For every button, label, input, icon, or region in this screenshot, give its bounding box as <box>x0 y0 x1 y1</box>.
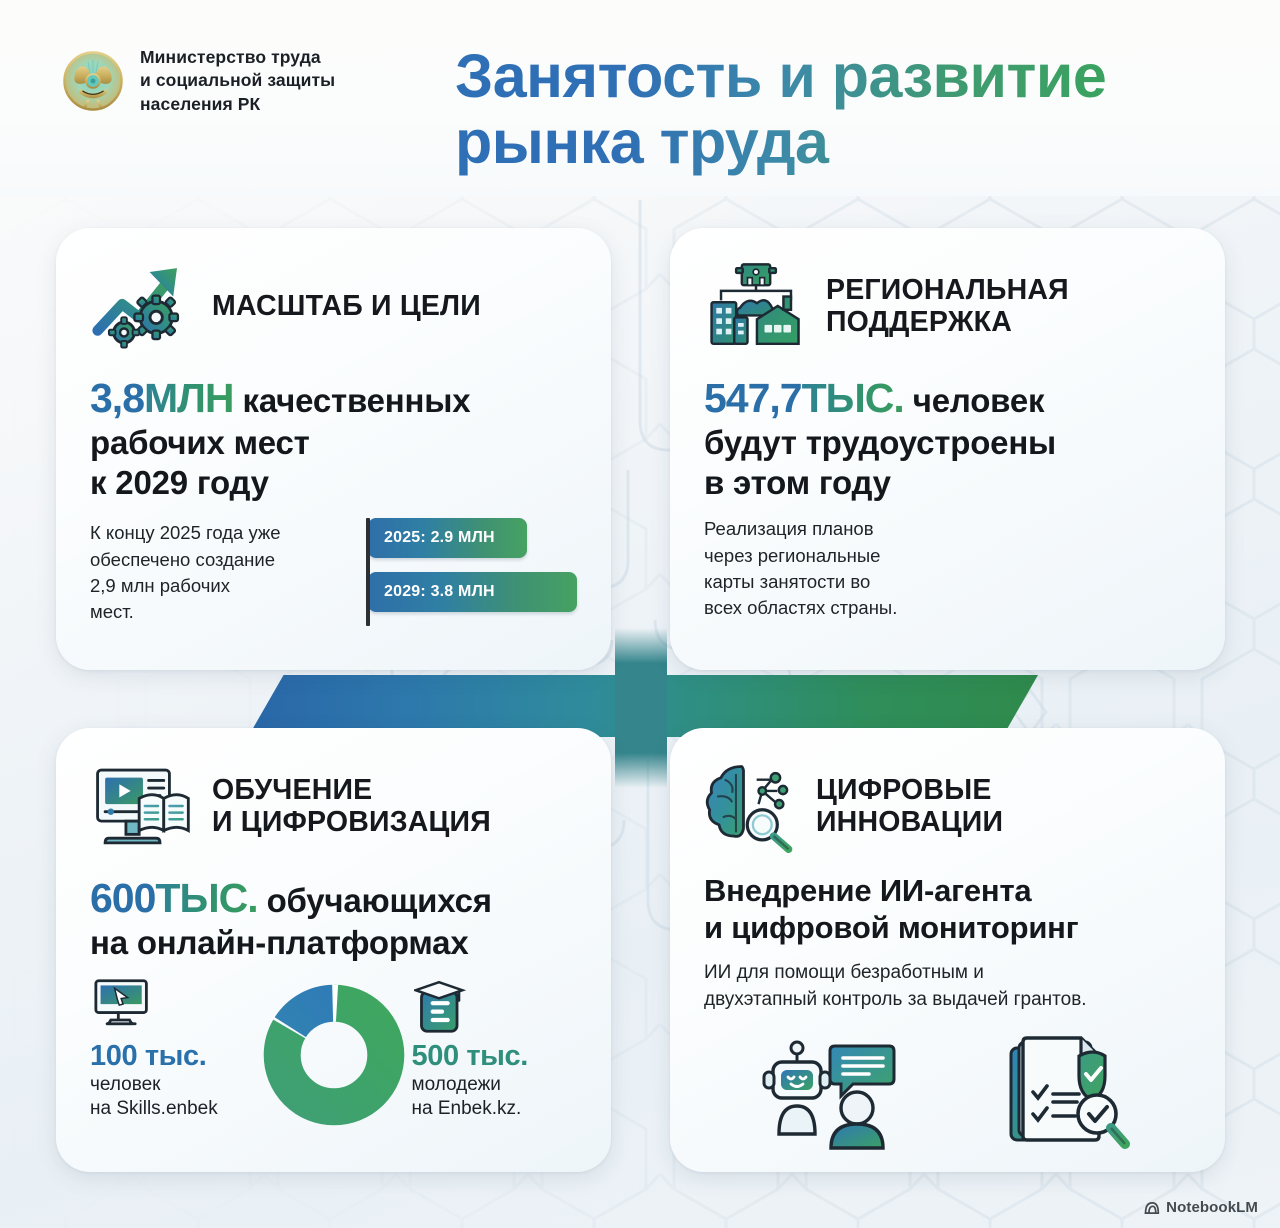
page-header: Министерство труда и социальной защиты н… <box>0 0 1280 196</box>
headline-number: 547,7 <box>704 375 802 421</box>
brain-magnifier-icon <box>704 758 798 854</box>
chart-axis <box>366 518 370 626</box>
monitor-book-icon <box>90 758 194 854</box>
card-digital-innovations: ЦИФРОВЫЕ ИННОВАЦИИ Внедрение ИИ-агента и… <box>670 728 1225 1172</box>
headline-number: 3,8 <box>90 375 144 421</box>
headline-unit: ТЫС. <box>155 875 257 921</box>
card-header: РЕГИОНАЛЬНАЯ ПОДДЕРЖКА <box>704 258 1191 354</box>
page-title: Занятость и развитие рынка труда <box>455 44 1245 176</box>
stat-skills-enbek: 100 тыс. человек на Skills.enbek <box>90 977 256 1122</box>
card-header: ОБУЧЕНИЕ И ЦИФРОВИЗАЦИЯ <box>90 758 577 854</box>
card-headline: Внедрение ИИ-агента и цифровой мониторин… <box>704 872 1191 946</box>
stat-description: молодежи на Enbek.kz. <box>412 1073 578 1121</box>
card-headline: 3,8МЛН качественных рабочих мест к 2029 … <box>90 374 577 502</box>
ministry-brand: Министерство труда и социальной защиты н… <box>62 46 335 116</box>
graduation-enbek-icon <box>414 977 472 1035</box>
notebooklm-icon <box>1143 1200 1160 1216</box>
headline-number: 600 <box>90 875 155 921</box>
headline-unit: МЛН <box>144 375 234 421</box>
card-title: МАСШТАБ И ЦЕЛИ <box>212 290 481 322</box>
robot-chat-person-icon <box>761 1032 901 1152</box>
kazakhstan-emblem-icon <box>62 50 124 112</box>
card-header: ЦИФРОВЫЕ ИННОВАЦИИ <box>704 758 1191 854</box>
card-regional-support: РЕГИОНАЛЬНАЯ ПОДДЕРЖКА 547,7ТЫС. человек… <box>670 228 1225 670</box>
stat-number: 500 тыс. <box>412 1041 578 1071</box>
infographic-canvas: Министерство труда и социальной защиты н… <box>0 0 1280 1228</box>
card-illustrations <box>704 1032 1191 1152</box>
card-body-text: К концу 2025 года уже обеспечено создани… <box>90 518 340 625</box>
stat-enbek-kz: 500 тыс. молодежи на Enbek.kz. <box>412 977 578 1122</box>
center-connector-vertical <box>615 628 667 788</box>
bar-label-2025: 2025: 2.9 МЛН <box>368 518 527 558</box>
ministry-name: Министерство труда и социальной защиты н… <box>140 46 335 116</box>
card-body-text: Реализация планов через региональные кар… <box>704 516 1191 621</box>
bar-row: 2025: 2.9 МЛН <box>368 518 577 558</box>
stat-number: 100 тыс. <box>90 1041 256 1071</box>
card-scale-and-goals: МАСШТАБ И ЦЕЛИ 3,8МЛН качественных рабоч… <box>56 228 611 670</box>
cursor-monitor-icon <box>90 977 156 1035</box>
city-network-icon <box>704 258 808 354</box>
headline-unit: ТЫС. <box>802 375 904 421</box>
stat-description: человек на Skills.enbek <box>90 1073 256 1121</box>
card-headline: 547,7ТЫС. человек будут трудоустроены в … <box>704 374 1191 502</box>
card-training-and-digitalization: ОБУЧЕНИЕ И ЦИФРОВИЗАЦИЯ 600ТЫС. обучающи… <box>56 728 611 1172</box>
notebooklm-watermark: NotebookLM <box>1143 1199 1258 1216</box>
card-title: ОБУЧЕНИЕ И ЦИФРОВИЗАЦИЯ <box>212 774 491 839</box>
bar-label-2029: 2029: 3.8 МЛН <box>368 572 577 612</box>
card-body-text: ИИ для помощи безработным и двухэтапный … <box>704 960 1191 1014</box>
bar-row: 2029: 3.8 МЛН <box>368 572 577 612</box>
jobs-bar-chart: 2025: 2.9 МЛН 2029: 3.8 МЛН <box>358 518 577 626</box>
watermark-label: NotebookLM <box>1166 1199 1258 1216</box>
training-stats-row: 100 тыс. человек на Skills.enbek <box>90 977 577 1129</box>
card-headline: 600ТЫС. обучающихся на онлайн-платформах <box>90 874 577 963</box>
card-title: ЦИФРОВЫЕ ИННОВАЦИИ <box>816 774 1003 839</box>
training-donut-chart <box>260 981 408 1129</box>
growth-arrow-gears-icon <box>90 258 194 354</box>
document-shield-magnifier-icon <box>1005 1032 1135 1152</box>
card-title: РЕГИОНАЛЬНАЯ ПОДДЕРЖКА <box>826 274 1069 339</box>
card-header: МАСШТАБ И ЦЕЛИ <box>90 258 577 354</box>
